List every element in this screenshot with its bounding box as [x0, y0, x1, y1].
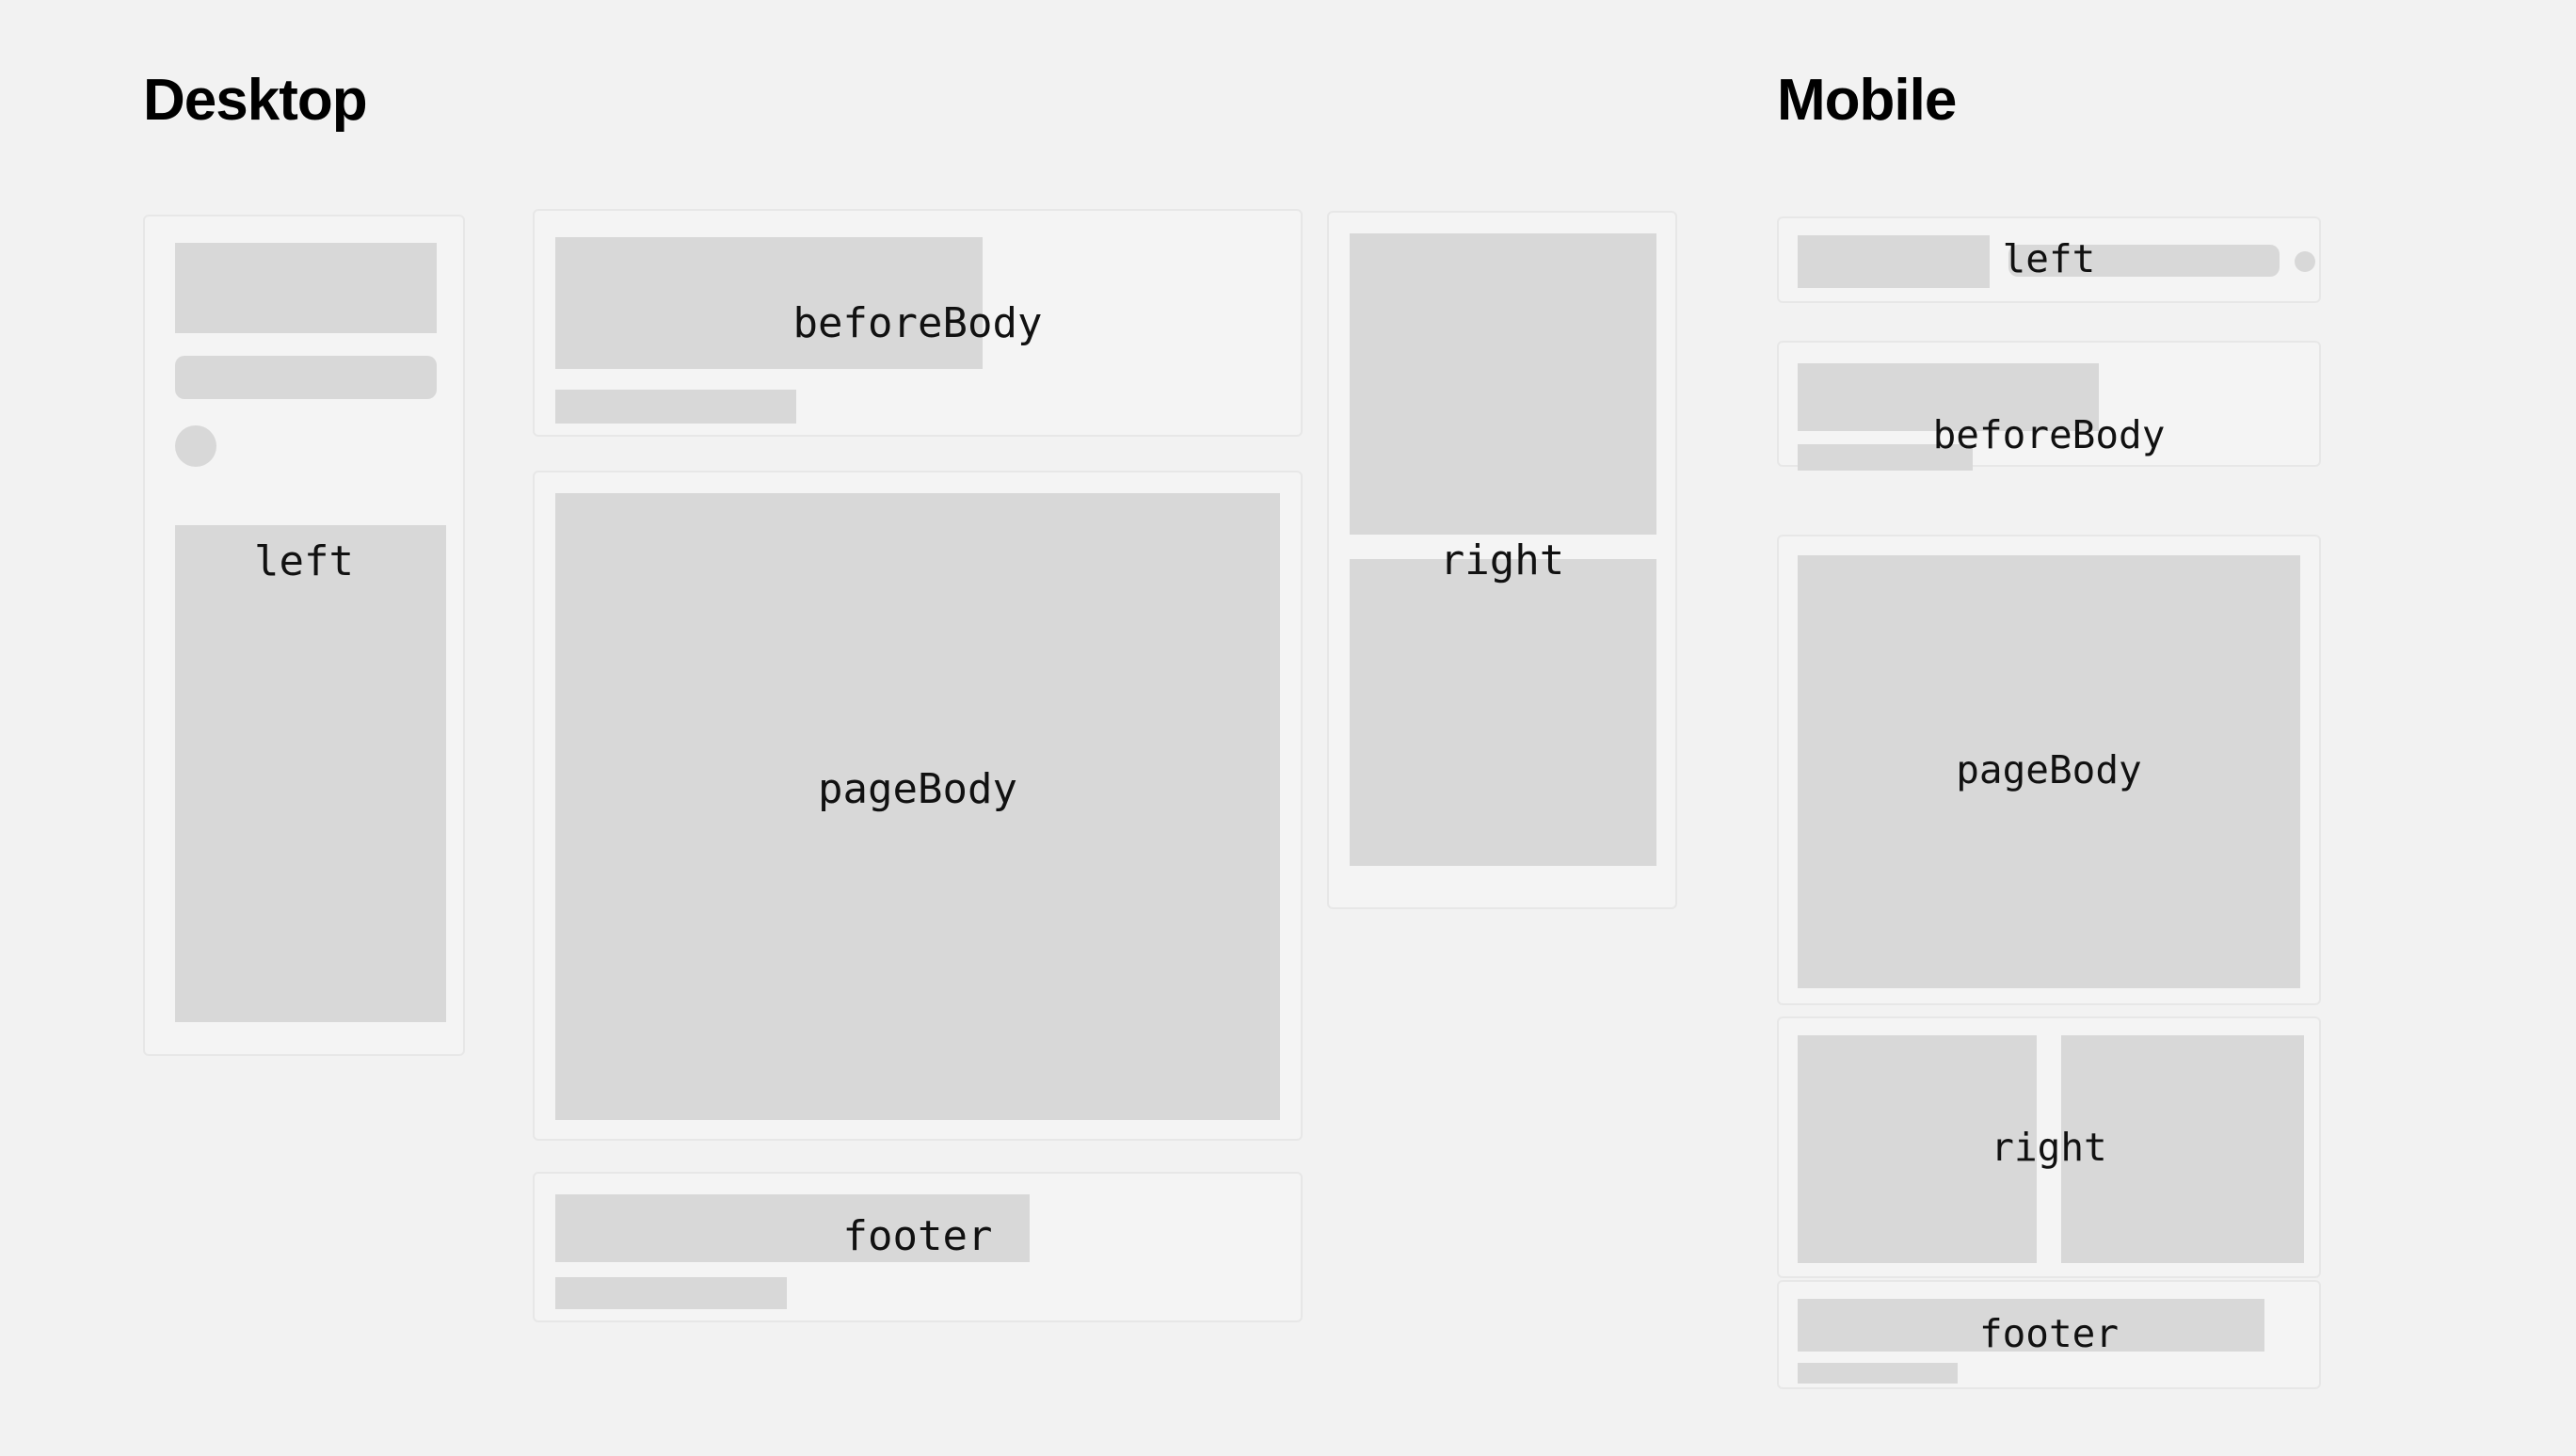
- placeholder-block: [175, 243, 437, 333]
- mobile-region-beforeBody[interactable]: [1777, 341, 2321, 467]
- placeholder-block: [555, 237, 983, 369]
- mobile-region-left[interactable]: [1777, 216, 2321, 303]
- placeholder-block-bottom: [1350, 559, 1656, 866]
- desktop-region-left[interactable]: [143, 215, 465, 1056]
- desktop-region-pageBody[interactable]: [533, 471, 1303, 1141]
- placeholder-bar: [1798, 1363, 1958, 1384]
- placeholder-block: [555, 1194, 1030, 1262]
- desktop-region-beforeBody[interactable]: [533, 209, 1303, 437]
- placeholder-block: [1798, 1299, 2264, 1352]
- placeholder-bar: [2008, 245, 2280, 277]
- column-title-mobile: Mobile: [1777, 72, 1956, 130]
- placeholder-block: [1798, 363, 2099, 431]
- placeholder-bar: [1798, 444, 1973, 471]
- placeholder-avatar-circle: [175, 425, 216, 467]
- placeholder-block: [1798, 235, 1990, 288]
- mobile-region-right[interactable]: [1777, 1016, 2321, 1278]
- mobile-region-footer[interactable]: [1777, 1280, 2321, 1389]
- placeholder-bar: [175, 356, 437, 399]
- mobile-region-pageBody[interactable]: [1777, 535, 2321, 1005]
- desktop-region-right[interactable]: [1327, 211, 1677, 909]
- placeholder-block-right: [2061, 1035, 2304, 1263]
- placeholder-block-left: [1798, 1035, 2037, 1263]
- desktop-region-footer[interactable]: [533, 1172, 1303, 1322]
- placeholder-bar: [555, 1277, 787, 1309]
- column-title-desktop: Desktop: [143, 72, 367, 130]
- placeholder-block-large: [555, 493, 1280, 1120]
- placeholder-block-large: [1798, 555, 2300, 988]
- placeholder-bar: [555, 390, 796, 424]
- placeholder-avatar-circle: [2295, 251, 2315, 272]
- placeholder-block-top: [1350, 233, 1656, 535]
- placeholder-block-tall: [175, 525, 446, 1022]
